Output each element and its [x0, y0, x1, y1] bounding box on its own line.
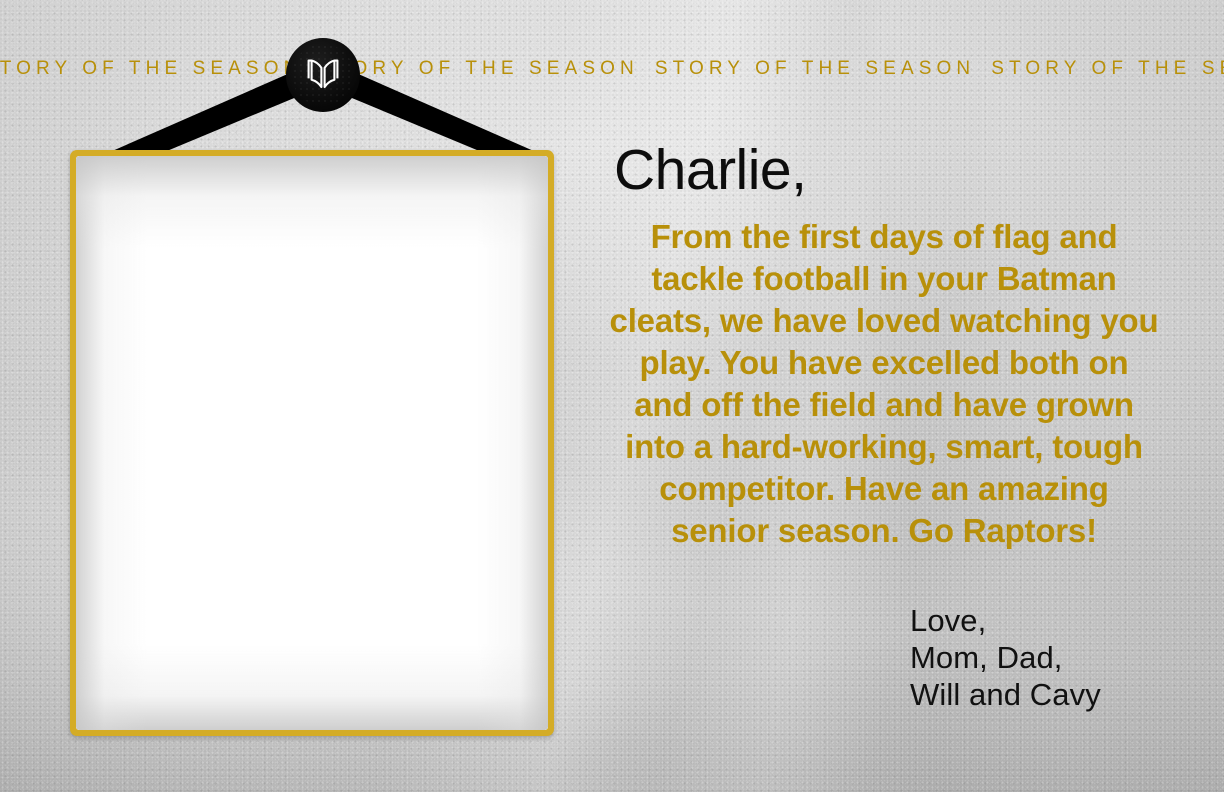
signature-line: Love, — [910, 602, 1206, 639]
tribute-message: Charlie, From the first days of flag and… — [578, 138, 1206, 713]
message-body-line: play. You have excelled both on — [640, 344, 1129, 381]
banner-text-segment: STORY OF THE SEASON — [655, 58, 991, 79]
message-body-line: senior season. Go Raptors! — [671, 512, 1097, 549]
banner-text-segment: STORY OF THE SEASON — [0, 58, 318, 79]
message-body-line: cleats, we have loved watching you — [610, 302, 1159, 339]
senior-tribute-slide: STORY OF THE SEASONSTORY OF THE SEASONST… — [0, 0, 1224, 792]
message-body-line: into a hard-working, smart, tough — [625, 428, 1143, 465]
message-body-line: and off the field and have grown — [634, 386, 1134, 423]
signature-line: Mom, Dad, — [910, 639, 1206, 676]
signature-line: Will and Cavy — [910, 676, 1206, 713]
photo-placeholder[interactable] — [76, 156, 548, 730]
photo-frame[interactable] — [70, 150, 554, 736]
message-body-line: competitor. Have an amazing — [659, 470, 1108, 507]
message-body: From the first days of flag andtackle fo… — [578, 216, 1190, 552]
banner-text-segment: STORY OF THE SEASON — [991, 58, 1224, 79]
message-body-line: From the first days of flag and — [651, 218, 1118, 255]
team-logo-medallion — [286, 38, 360, 112]
banner-text-segment: STORY OF THE SEASON — [318, 58, 654, 79]
signature-block: Love,Mom, Dad,Will and Cavy — [910, 602, 1206, 713]
story-of-the-season-banner: STORY OF THE SEASONSTORY OF THE SEASONST… — [0, 54, 1224, 84]
salutation: Charlie, — [614, 138, 1206, 202]
message-body-line: tackle football in your Batman — [651, 260, 1116, 297]
open-book-icon — [300, 57, 346, 91]
photo-frame-mat — [76, 156, 548, 730]
